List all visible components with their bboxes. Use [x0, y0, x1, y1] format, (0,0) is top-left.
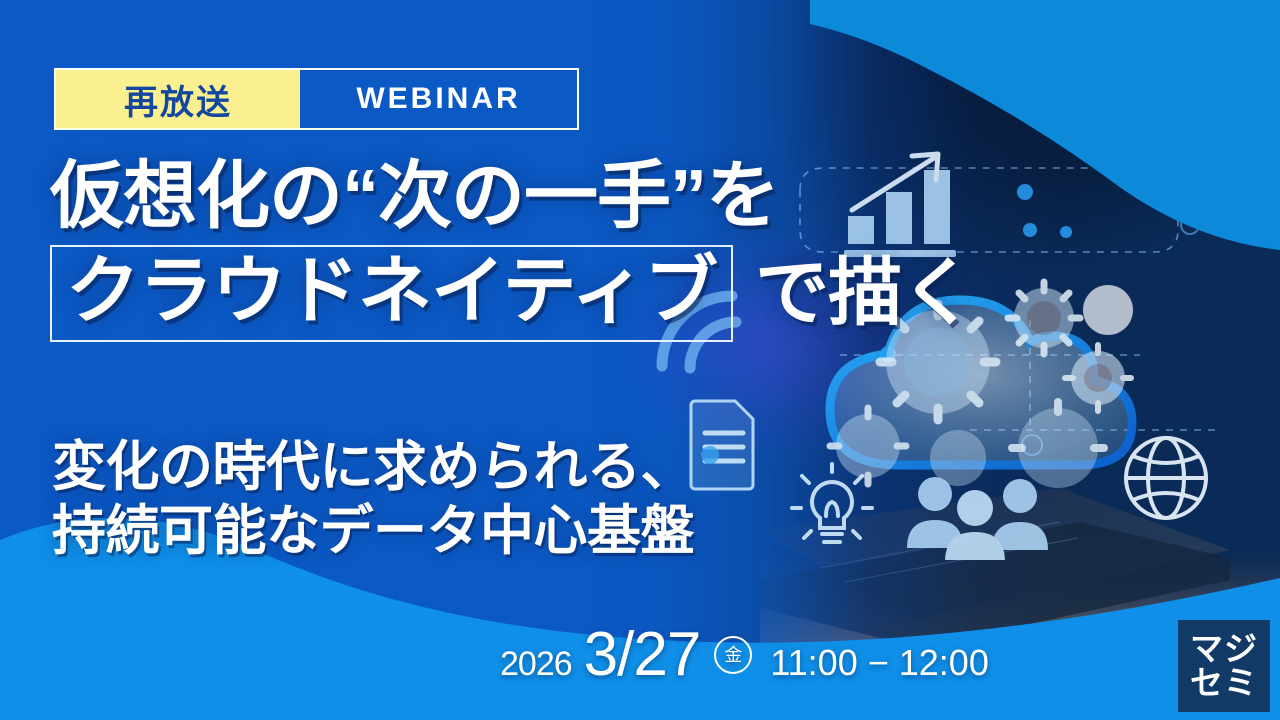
- schedule-year: 2026: [500, 645, 572, 684]
- subtitle-line-1: 変化の時代に求められる、: [52, 436, 694, 500]
- logo-line-1: マジ: [1190, 632, 1258, 666]
- majisemi-logo: マジ セミ: [1178, 620, 1270, 712]
- schedule-month-day: 3/27: [584, 619, 701, 690]
- subtitle-line-2: 持続可能なデータ中心基盤: [52, 500, 694, 564]
- subtitle: 変化の時代に求められる、 持続可能なデータ中心基盤: [52, 436, 694, 563]
- badge-rebroadcast-label: 再放送: [56, 70, 300, 128]
- schedule-day-of-week: 金: [714, 636, 752, 674]
- webinar-banner: 再放送 WEBINAR 仮想化の“次の一手”を クラウドネイティブ で描く 変化…: [0, 0, 1280, 720]
- headline-boxed-term: クラウドネイティブ: [50, 245, 733, 342]
- headline: 仮想化の“次の一手”を クラウドネイティブ で描く: [50, 158, 1060, 342]
- badge-webinar-label: WEBINAR: [300, 70, 577, 128]
- document-icon: [685, 395, 763, 491]
- headline-line-1: 仮想化の“次の一手”を: [50, 158, 1060, 235]
- schedule-time-range: 11:00 − 12:00: [770, 642, 989, 684]
- schedule-day-of-week-wrap: 金: [714, 636, 752, 674]
- schedule: 2026 3/27 金 11:00 − 12:00: [500, 619, 989, 690]
- badge: 再放送 WEBINAR: [54, 68, 579, 130]
- logo-line-2: セミ: [1190, 666, 1258, 700]
- headline-line-2: クラウドネイティブ で描く: [50, 245, 1060, 342]
- headline-line-2-tail: で描く: [755, 255, 974, 332]
